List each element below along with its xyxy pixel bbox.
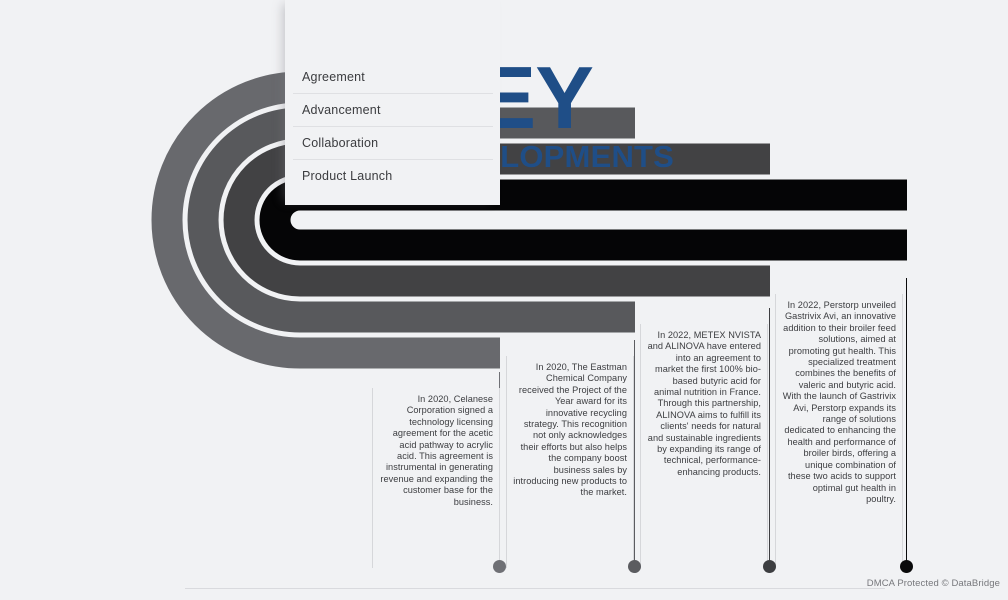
development-text: In 2020, The Eastman Chemical Company re… xyxy=(513,362,627,499)
legend-item-label: Advancement xyxy=(302,103,381,117)
connector-stem-2 xyxy=(634,340,635,567)
legend-list: Agreement Advancement Collaboration Prod… xyxy=(293,60,493,192)
legend-item-label: Agreement xyxy=(302,70,365,84)
legend-item-advancement[interactable]: Advancement xyxy=(293,93,493,126)
infographic-canvas: Agreement Advancement Collaboration Prod… xyxy=(0,0,1008,600)
timeline-dot-collaboration[interactable] xyxy=(763,560,776,573)
connector-stem-4 xyxy=(906,278,907,567)
legend-item-product-launch[interactable]: Product Launch xyxy=(293,159,493,192)
timeline-dot-agreement[interactable] xyxy=(493,560,506,573)
development-column-2: In 2020, The Eastman Chemical Company re… xyxy=(506,356,634,568)
timeline-dot-advancement[interactable] xyxy=(628,560,641,573)
connector-stem-3 xyxy=(769,308,770,567)
development-column-4: In 2022, Perstorp unveiled Gastrivix Avi… xyxy=(775,294,903,568)
legend-item-collaboration[interactable]: Collaboration xyxy=(293,126,493,159)
development-column-3: In 2022, METEX NVISTA and ALINOVA have e… xyxy=(640,324,768,568)
timeline-dot-product-launch[interactable] xyxy=(900,560,913,573)
legend-item-label: Product Launch xyxy=(302,169,392,183)
development-column-1: In 2020, Celanese Corporation signed a t… xyxy=(372,388,500,568)
development-text: In 2020, Celanese Corporation signed a t… xyxy=(379,394,493,508)
footer-divider xyxy=(185,588,885,589)
development-text: In 2022, METEX NVISTA and ALINOVA have e… xyxy=(647,330,761,478)
dmca-watermark: DMCA Protected © DataBridge xyxy=(867,578,1000,589)
development-text: In 2022, Perstorp unveiled Gastrivix Avi… xyxy=(782,300,896,505)
legend-item-label: Collaboration xyxy=(302,136,378,150)
legend-item-agreement[interactable]: Agreement xyxy=(293,60,493,93)
legend-panel: Agreement Advancement Collaboration Prod… xyxy=(285,0,500,205)
